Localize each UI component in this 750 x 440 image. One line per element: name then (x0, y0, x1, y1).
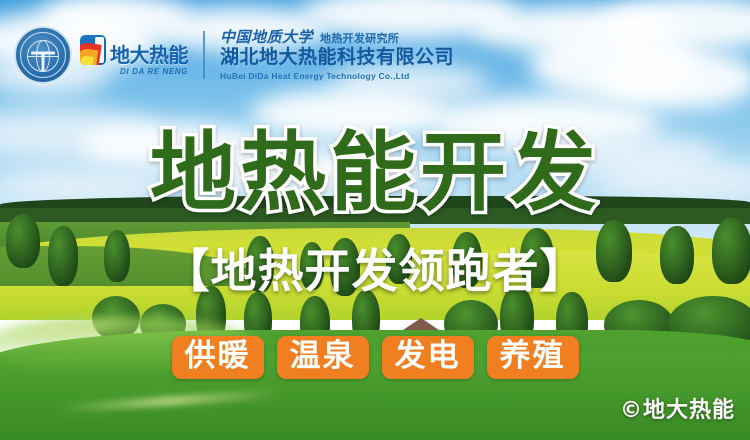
service-tag[interactable]: 温泉 (277, 336, 369, 379)
brand-logo-bar: 地大热能 DI DA RE NENG 中国地质大学 地热开发研究所 湖北地大热能… (14, 26, 454, 84)
institute-name: 地热开发研究所 (320, 33, 399, 46)
service-tag-list: 供暖 温泉 发电 养殖 (0, 336, 750, 379)
copyright-watermark: ©地大热能 (620, 392, 735, 424)
dida-rainbow-mark-icon (80, 35, 106, 65)
university-seal-icon (14, 26, 72, 84)
logo-divider (203, 31, 205, 79)
headline-subtitle: 【地热开发领跑者】 (0, 248, 750, 294)
company-name-en: HuBei DiDa Heat Energy Technology Co.,Lt… (220, 72, 454, 82)
company-name-cn: 湖北地大热能科技有限公司 (220, 47, 454, 69)
service-tag[interactable]: 供暖 (172, 336, 264, 379)
dida-brand-mark: 地大热能 DI DA RE NENG (80, 35, 188, 76)
headline-title: 地热能开发 (0, 130, 750, 216)
brand-name-cn: 地大热能 (110, 45, 188, 65)
service-tag[interactable]: 发电 (382, 336, 474, 379)
university-name: 中国地质大学 (220, 29, 313, 46)
seal-stem-icon (42, 53, 45, 71)
organisation-block: 中国地质大学 地热开发研究所 湖北地大热能科技有限公司 HuBei DiDa H… (220, 29, 454, 82)
promotional-banner: 地大热能 DI DA RE NENG 中国地质大学 地热开发研究所 湖北地大热能… (0, 0, 750, 440)
brand-name-pinyin: DI DA RE NENG (120, 67, 188, 76)
service-tag[interactable]: 养殖 (487, 336, 579, 379)
mark-swoosh-yellow (80, 55, 94, 65)
cloud (600, 48, 750, 110)
